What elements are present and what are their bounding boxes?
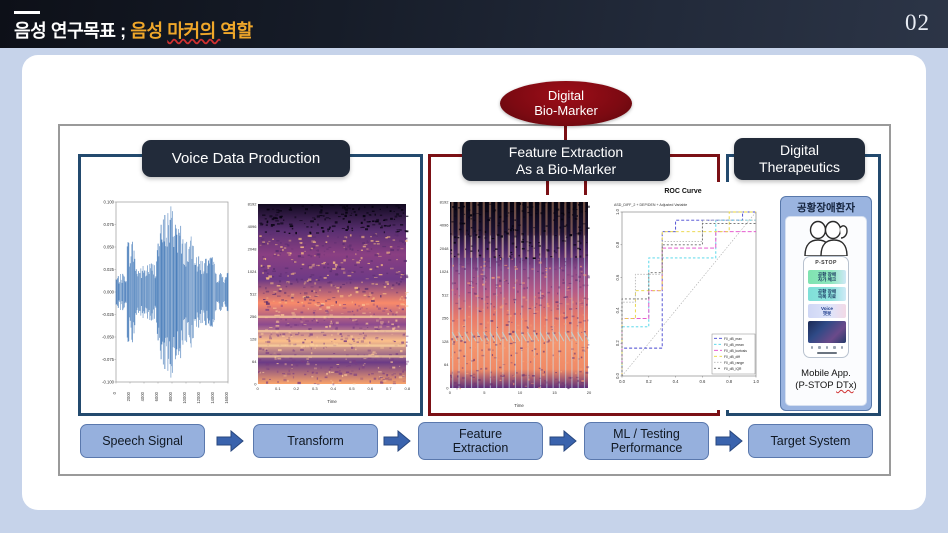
svg-text:4000: 4000 (140, 391, 145, 401)
flow-step-3-line1: Feature (453, 427, 509, 441)
svg-text:F0_dB_IQR: F0_dB_IQR (724, 367, 742, 371)
svg-text:F0_dB_mean: F0_dB_mean (724, 343, 744, 347)
svg-text:0.0: 0.0 (619, 379, 625, 384)
spectrogram1-svg: 8192409620481024512256128640 00.10.20.30… (238, 200, 410, 408)
nav-dot-4 (833, 346, 836, 349)
caption-close: ) (854, 380, 857, 391)
flow-arrow-2-icon (383, 430, 411, 452)
flow-arrow-4-icon (715, 430, 743, 452)
chip-dtx-line2: Therapeutics (759, 159, 840, 176)
flow-step-4-line1: ML / Testing (611, 427, 683, 441)
waveform-svg: 0.1000.0750.0500.0250.000-0.025-0.050-0.… (88, 198, 234, 410)
svg-text:ROC Curve: ROC Curve (664, 188, 701, 195)
slide-header: 음성 연구목표 ; 음성 마커의 역할 02 (0, 0, 948, 48)
svg-text:256: 256 (250, 314, 257, 319)
svg-text:256: 256 (442, 316, 449, 321)
svg-text:64: 64 (444, 362, 449, 367)
svg-text:10: 10 (518, 390, 523, 395)
svg-text:ASD_DIFF_2 + DEP/DEN + Adjuste: ASD_DIFF_2 + DEP/DEN + Adjusted Variable (614, 203, 687, 207)
page-number: 02 (905, 10, 930, 36)
svg-text:0.075: 0.075 (104, 222, 115, 227)
patient-avatar-icon (797, 220, 855, 256)
app-row-1-line2: 자가 체크 (818, 277, 836, 282)
feature-connector-left (546, 181, 549, 195)
chart-mel-spectrogram-long: 8192409620481024512256128640 05101520 Ti… (432, 198, 592, 412)
nav-dot-2 (818, 346, 821, 349)
svg-text:1024: 1024 (440, 269, 450, 274)
svg-text:0.6: 0.6 (368, 386, 374, 391)
svg-text:Time: Time (514, 403, 524, 408)
svg-text:1.0: 1.0 (753, 379, 759, 384)
svg-text:0.2: 0.2 (646, 379, 652, 384)
svg-text:0.4: 0.4 (615, 307, 620, 313)
svg-text:-0.025: -0.025 (102, 312, 115, 317)
svg-text:15: 15 (552, 390, 557, 395)
chip-voice-label: Voice Data Production (172, 150, 320, 168)
caption-line2: (P-STOP DTx) (786, 380, 866, 392)
svg-text:2000: 2000 (126, 391, 131, 401)
chip-dtx-line1: Digital (759, 142, 840, 159)
bio-marker-line1: Digital (534, 89, 598, 104)
chip-feature-line1: Feature Extraction (509, 144, 623, 161)
svg-text:5: 5 (483, 390, 486, 395)
svg-text:F0_dB_max: F0_dB_max (724, 337, 742, 341)
chip-digital-therapeutics: Digital Therapeutics (734, 138, 865, 180)
bio-marker-line2: Bio-Marker (534, 104, 598, 119)
flow-arrow-1-icon (216, 430, 244, 452)
caption-line1: Mobile App. (786, 368, 866, 380)
svg-text:4096: 4096 (248, 224, 258, 229)
app-menu-item-voice-chatbot[interactable]: Voice 챗봇 (808, 304, 846, 318)
chart-roc-curve: ROC Curve ASD_DIFF_2 + DEP/DEN + Adjuste… (600, 182, 766, 410)
spectrogram2-svg: 8192409620481024512256128640 05101520 Ti… (432, 198, 592, 412)
page-title-accent-part3: 역할 (220, 21, 252, 41)
svg-text:8000: 8000 (168, 391, 173, 401)
svg-text:512: 512 (442, 292, 449, 297)
svg-text:8192: 8192 (248, 201, 258, 206)
chip-feature-extraction: Feature Extraction As a Bio-Marker (462, 140, 670, 181)
svg-text:0.7: 0.7 (386, 386, 392, 391)
nav-dot-3 (826, 346, 829, 349)
page-title-main: 음성 연구목표 ; (14, 21, 130, 41)
feature-connector-right (584, 181, 587, 195)
svg-text:-0.100: -0.100 (102, 380, 115, 385)
svg-text:0.4: 0.4 (331, 386, 337, 391)
phone-home-indicator (817, 352, 837, 354)
svg-text:0.3: 0.3 (312, 386, 318, 391)
svg-text:4096: 4096 (440, 223, 450, 228)
app-menu-item-self-check[interactable]: 공황 장애 자가 체크 (808, 270, 846, 284)
caption-open: (P-STOP (795, 380, 836, 391)
caption-dtx: DTx (836, 380, 853, 391)
svg-text:-0.075: -0.075 (102, 357, 115, 362)
svg-text:0.4: 0.4 (673, 379, 679, 384)
chip-feature-line2: As a Bio-Marker (509, 161, 623, 178)
svg-text:F0_dB_kurtosis: F0_dB_kurtosis (724, 349, 747, 353)
svg-text:0: 0 (112, 391, 117, 394)
svg-text:2048: 2048 (440, 246, 450, 251)
svg-text:0.6: 0.6 (699, 379, 705, 384)
svg-text:20: 20 (587, 390, 592, 395)
svg-text:0.8: 0.8 (726, 379, 732, 384)
svg-text:2048: 2048 (248, 246, 258, 251)
chart-speech-waveform: 0.1000.0750.0500.0250.000-0.025-0.050-0.… (88, 198, 234, 410)
flow-step-ml-testing[interactable]: ML / Testing Performance (584, 422, 709, 460)
svg-text:0: 0 (257, 386, 260, 391)
svg-text:0.050: 0.050 (104, 245, 115, 250)
svg-text:512: 512 (250, 291, 257, 296)
svg-text:14000: 14000 (210, 391, 215, 403)
phone-mockup: P-STOP 공황 장애 자가 체크 공황 장애 극복 치료 Voice 챗봇 (803, 256, 849, 358)
flow-step-3-line2: Extraction (453, 441, 509, 455)
svg-text:0.8: 0.8 (615, 241, 620, 247)
svg-text:0.6: 0.6 (615, 274, 620, 280)
phone-app-brand: P-STOP (804, 260, 848, 266)
svg-text:1024: 1024 (248, 269, 258, 274)
app-row-2-line2: 극복 치료 (818, 294, 836, 299)
svg-text:F0_dB_diff: F0_dB_diff (724, 355, 740, 359)
header-accent-rule (14, 11, 40, 14)
svg-text:0.5: 0.5 (349, 386, 355, 391)
svg-text:0.2: 0.2 (615, 340, 620, 346)
chip-voice-data-production: Voice Data Production (142, 140, 350, 177)
svg-text:0.2: 0.2 (294, 386, 300, 391)
chart-mel-spectrogram-short: 8192409620481024512256128640 00.10.20.30… (238, 200, 410, 408)
flow-step-1-label: Speech Signal (102, 434, 183, 448)
svg-text:8192: 8192 (440, 199, 450, 204)
app-banner-image (808, 321, 846, 343)
svg-text:0: 0 (449, 390, 452, 395)
flow-step-2-label: Transform (287, 434, 344, 448)
digital-bio-marker-badge: Digital Bio-Marker (500, 81, 632, 126)
app-row-3-line2: 챗봇 (823, 311, 831, 316)
svg-text:16000: 16000 (224, 391, 229, 403)
page-title-accent-part2: 마커의 (167, 21, 220, 41)
flow-step-speech-signal[interactable]: Speech Signal (80, 424, 205, 458)
svg-text:128: 128 (442, 339, 449, 344)
flow-step-5-label: Target System (771, 434, 851, 448)
svg-text:128: 128 (250, 336, 257, 341)
flow-step-transform[interactable]: Transform (253, 424, 378, 458)
svg-text:-0.050: -0.050 (102, 335, 115, 340)
svg-text:6000: 6000 (154, 391, 159, 401)
svg-text:0.0: 0.0 (615, 372, 620, 378)
svg-text:0.025: 0.025 (104, 267, 115, 272)
svg-text:Time: Time (327, 399, 337, 404)
page-title: 음성 연구목표 ; 음성 마커의 역할 (14, 17, 253, 43)
page-title-accent: 음성 마커의 역할 (130, 21, 252, 41)
svg-text:0.1: 0.1 (275, 386, 281, 391)
svg-text:1.0: 1.0 (615, 208, 620, 214)
flow-step-4-line2: Performance (611, 441, 683, 455)
page-title-accent-part1: 음성 (130, 21, 167, 41)
patient-label: 공황장애환자 (784, 200, 868, 215)
flow-arrow-3-icon (549, 430, 577, 452)
nav-dot-5 (841, 346, 844, 349)
roc-svg: ROC Curve ASD_DIFF_2 + DEP/DEN + Adjuste… (600, 182, 766, 410)
phone-nav-bar (808, 345, 846, 350)
flow-step-target-system[interactable]: Target System (748, 424, 873, 458)
svg-text:0.000: 0.000 (104, 290, 115, 295)
app-menu-item-treatment[interactable]: 공황 장애 극복 치료 (808, 287, 846, 301)
mobile-app-caption: Mobile App. (P-STOP DTx) (786, 368, 866, 392)
svg-text:0.8: 0.8 (405, 386, 411, 391)
svg-text:64: 64 (252, 359, 257, 364)
svg-text:F0_dB_range: F0_dB_range (724, 361, 744, 365)
flow-step-feature-extraction[interactable]: Feature Extraction (418, 422, 543, 460)
nav-dot-1 (811, 346, 814, 349)
svg-text:10000: 10000 (182, 391, 187, 403)
svg-text:0.100: 0.100 (104, 200, 115, 205)
svg-text:12000: 12000 (196, 391, 201, 403)
